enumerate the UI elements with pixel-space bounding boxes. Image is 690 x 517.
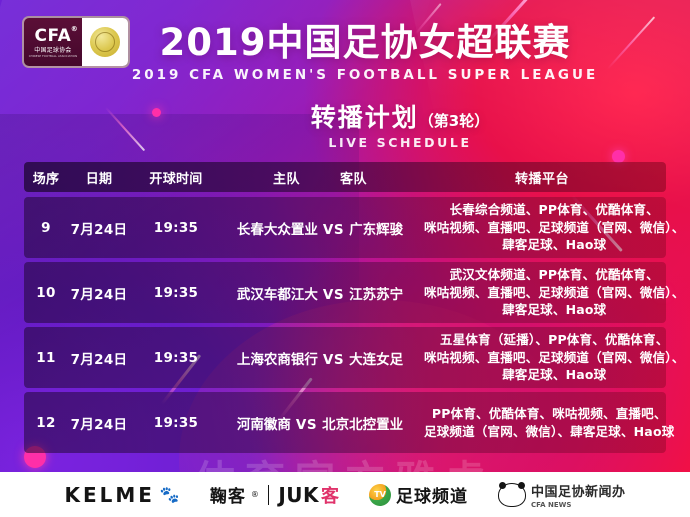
platform-line: 肆客足球、Hao球	[424, 236, 684, 254]
platform-line: 咪咕视频、直播吧、足球频道（官网、微信）、	[424, 349, 684, 367]
column-header-teams: 主队 客队	[222, 168, 418, 187]
vs-label: VS	[318, 222, 349, 238]
cfa-news-sub: CFA NEWS	[531, 501, 626, 509]
platform-line: 五星体育（延播）、PP体育、优酷体育、	[424, 331, 684, 349]
cell-match-date: 7月24日	[68, 413, 130, 433]
table-row[interactable]: 97月24日19:35长春大众置业VS广东辉骏长春综合频道、PP体育、优酷体育、…	[24, 197, 666, 258]
vs-label: VS	[291, 417, 322, 433]
cell-broadcast-platforms: 长春综合频道、PP体育、优酷体育、咪咕视频、直播吧、足球频道（官网、微信）、肆客…	[418, 201, 690, 254]
platform-line: 咪咕视频、直播吧、足球频道（官网、微信）、	[424, 219, 684, 237]
subtitle-chinese: 转播计划（第3轮）	[110, 104, 690, 132]
platform-line: 长春综合频道、PP体育、优酷体育、	[424, 201, 684, 219]
column-header-away: 客队	[340, 168, 367, 187]
cell-broadcast-platforms: 武汉文体频道、PP体育、优酷体育、咪咕视频、直播吧、足球频道（官网、微信）、肆客…	[418, 266, 690, 319]
cell-kickoff-time: 19:35	[130, 415, 222, 431]
divider	[268, 485, 270, 505]
juke-cn-name: 鞠客	[210, 482, 246, 507]
platform-line: 肆客足球、Hao球	[424, 366, 684, 384]
table-header-row: 场序 日期 开球时间 主队 客队 转播平台	[24, 162, 666, 192]
column-header-date: 日期	[68, 168, 130, 187]
juke-stamp-icon: 客	[321, 482, 339, 508]
matchup-line: 河南徽商VS北京北控置业	[222, 413, 418, 433]
table-row[interactable]: 127月24日19:35河南徽商VS北京北控置业PP体育、优酷体育、咪咕视频、直…	[24, 392, 666, 453]
matchup-line: 上海农商银行VS大连女足	[222, 348, 418, 368]
sponsor-football-channel: TV 足球频道	[369, 482, 468, 507]
platform-line: 武汉文体频道、PP体育、优酷体育、	[424, 266, 684, 284]
matchup-line: 武汉车都江大VS江苏苏宁	[222, 283, 418, 303]
cell-match-no: 12	[24, 415, 68, 431]
column-header-platform: 转播平台	[418, 168, 666, 187]
home-team: 长春大众置业	[237, 222, 318, 238]
cell-matchup: 武汉车都江大VS江苏苏宁	[222, 283, 418, 303]
subtitle-english: LIVE SCHEDULE	[110, 135, 690, 150]
page-subtitle: 转播计划（第3轮） LIVE SCHEDULE	[0, 104, 690, 150]
sponsor-kelme: KELME 🐾	[64, 483, 179, 507]
vs-label: VS	[318, 352, 349, 368]
vs-label: VS	[318, 287, 349, 303]
title-chinese: 2019中国足协女超联赛	[40, 24, 690, 63]
away-team: 广东辉骏	[349, 222, 403, 238]
home-team: 上海农商银行	[237, 352, 318, 368]
cell-match-no: 10	[24, 285, 68, 301]
juke-en-name: JUK	[278, 483, 319, 507]
cell-kickoff-time: 19:35	[130, 350, 222, 366]
sponsor-juke: 鞠客 ® JUK 客	[210, 482, 339, 508]
panda-icon	[498, 483, 526, 507]
subtitle-round: （第3轮）	[419, 112, 489, 130]
cell-match-no: 11	[24, 350, 68, 366]
platform-line: 足球频道（官网、微信）、肆客足球、Hao球	[424, 423, 674, 441]
paw-print-icon: 🐾	[160, 487, 180, 503]
sponsor-cfa-news: 中国足协新闻办 CFA NEWS	[498, 481, 626, 509]
cell-kickoff-time: 19:35	[130, 220, 222, 236]
table-body: 97月24日19:35长春大众置业VS广东辉骏长春综合频道、PP体育、优酷体育、…	[24, 197, 666, 453]
cell-broadcast-platforms: 五星体育（延播）、PP体育、优酷体育、咪咕视频、直播吧、足球频道（官网、微信）、…	[418, 331, 690, 384]
schedule-table: 场序 日期 开球时间 主队 客队 转播平台 97月24日19:35长春大众置业V…	[24, 162, 666, 457]
registered-icon: ®	[251, 490, 259, 499]
cell-matchup: 上海农商银行VS大连女足	[222, 348, 418, 368]
home-team: 武汉车都江大	[237, 287, 318, 303]
column-header-no: 场序	[24, 168, 68, 187]
cell-matchup: 河南徽商VS北京北控置业	[222, 413, 418, 433]
page-title: 2019中国足协女超联赛 2019 CFA WOMEN'S FOOTBALL S…	[0, 24, 690, 83]
cell-broadcast-platforms: PP体育、优酷体育、咪咕视频、直播吧、足球频道（官网、微信）、肆客足球、Hao球	[418, 405, 680, 441]
cell-match-no: 9	[24, 220, 68, 236]
broadcast-schedule-poster: CFA® 中国足球协会 CHINESE FOOTBALL ASSOCIATION…	[0, 0, 690, 517]
cell-match-date: 7月24日	[68, 348, 130, 368]
platform-line: PP体育、优酷体育、咪咕视频、直播吧、	[424, 405, 674, 423]
table-row[interactable]: 107月24日19:35武汉车都江大VS江苏苏宁武汉文体频道、PP体育、优酷体育…	[24, 262, 666, 323]
title-english: 2019 CFA WOMEN'S FOOTBALL SUPER LEAGUE	[40, 67, 690, 83]
platform-line: 咪咕视频、直播吧、足球频道（官网、微信）、	[424, 284, 684, 302]
matchup-line: 长春大众置业VS广东辉骏	[222, 218, 418, 238]
football-channel-name: 足球频道	[396, 482, 468, 507]
away-team: 大连女足	[349, 352, 403, 368]
away-team: 江苏苏宁	[349, 287, 403, 303]
cell-matchup: 长春大众置业VS广东辉骏	[222, 218, 418, 238]
cell-match-date: 7月24日	[68, 283, 130, 303]
cell-kickoff-time: 19:35	[130, 285, 222, 301]
platform-line: 肆客足球、Hao球	[424, 301, 684, 319]
tv-badge-icon: TV	[369, 484, 391, 506]
cfa-news-name: 中国足协新闻办 CFA NEWS	[531, 481, 626, 509]
kelme-wordmark: KELME	[64, 483, 154, 507]
subtitle-chinese-text: 转播计划	[311, 103, 419, 132]
home-team: 河南徽商	[237, 417, 291, 433]
column-header-home: 主队	[273, 168, 300, 187]
table-row[interactable]: 117月24日19:35上海农商银行VS大连女足五星体育（延播）、PP体育、优酷…	[24, 327, 666, 388]
column-header-time: 开球时间	[130, 168, 222, 187]
cell-match-date: 7月24日	[68, 218, 130, 238]
cfa-news-cn: 中国足协新闻办	[531, 485, 626, 500]
sponsor-footer: KELME 🐾 鞠客 ® JUK 客 TV 足球频道 中国足协新闻办 CFA N…	[0, 472, 690, 517]
away-team: 北京北控置业	[322, 417, 403, 433]
